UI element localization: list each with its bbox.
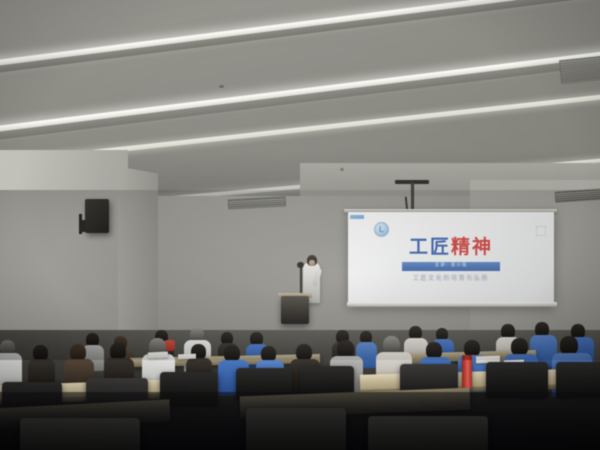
- chair-nearest: [20, 418, 140, 450]
- chair-nearest: [368, 416, 488, 450]
- smoke-detector-icon: [219, 85, 224, 88]
- chair-nearest: [246, 408, 346, 450]
- sprinkler-head-icon: [340, 168, 344, 171]
- wall-shading: [0, 190, 600, 360]
- ceiling-diffuser-grill: [560, 57, 600, 83]
- lecture-room-photo: L 工匠精神 主讲: 张小强 工匠文化的培育与弘扬: [0, 0, 600, 450]
- ceiling-diffuser: [559, 56, 600, 84]
- red-thermos: [462, 358, 472, 389]
